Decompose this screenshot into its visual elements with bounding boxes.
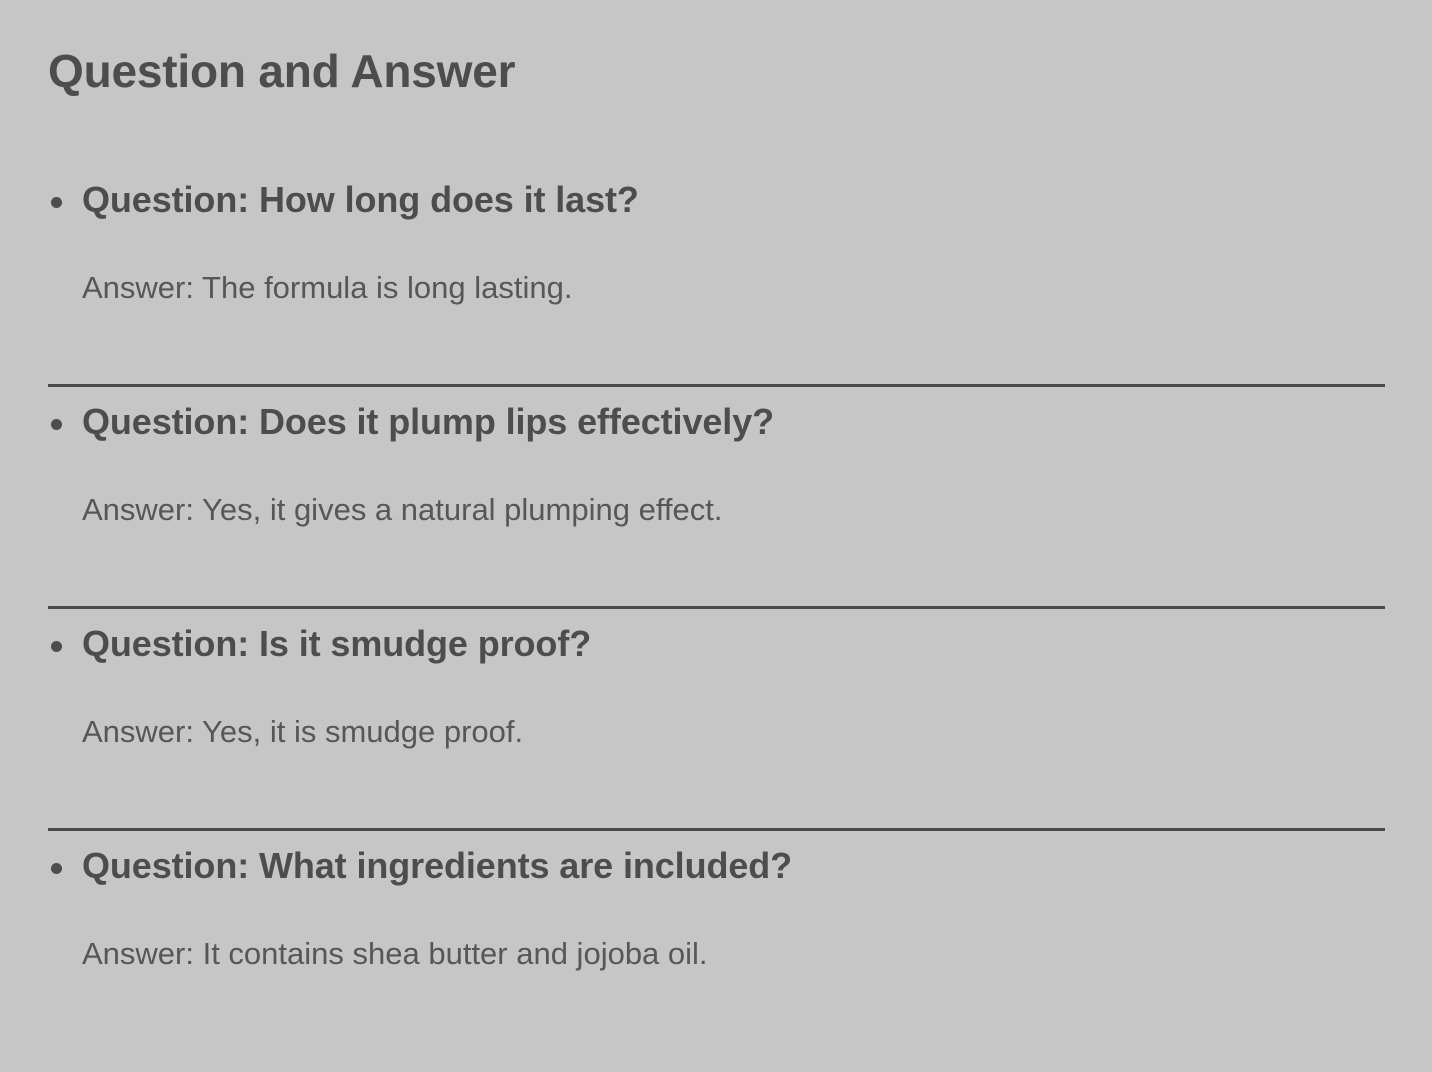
qa-list: Question: How long does it last? Answer:… [0,165,1432,974]
page-title: Question and Answer [48,43,515,99]
list-item: Question: Is it smudge proof? Answer: Ye… [0,609,1432,831]
qa-answer-text: Answer: Yes, it gives a natural plumping… [0,445,1432,530]
list-item: Question: How long does it last? Answer:… [0,165,1432,387]
qa-question-text: Question: Is it smudge proof? [82,621,1432,667]
qa-question-text: Question: Does it plump lips effectively… [82,399,1432,445]
list-item: Question: Does it plump lips effectively… [0,387,1432,609]
qa-answer-text: Answer: The formula is long lasting. [0,223,1432,308]
qa-question-row: Question: What ingredients are included? [0,831,1432,889]
question-answer-panel: Question and Answer Question: How long d… [0,0,1432,1072]
bullet-dot-icon [51,419,62,430]
qa-question-row: Question: Does it plump lips effectively… [0,387,1432,445]
qa-answer-text: Answer: It contains shea butter and jojo… [0,889,1432,974]
bullet-dot-icon [51,197,62,208]
qa-question-text: Question: What ingredients are included? [82,843,1432,889]
qa-answer-text: Answer: Yes, it is smudge proof. [0,667,1432,752]
qa-question-text: Question: How long does it last? [82,177,1432,223]
qa-question-row: Question: How long does it last? [0,165,1432,223]
list-item: Question: What ingredients are included?… [0,831,1432,974]
bullet-dot-icon [51,863,62,874]
bullet-dot-icon [51,641,62,652]
qa-question-row: Question: Is it smudge proof? [0,609,1432,667]
